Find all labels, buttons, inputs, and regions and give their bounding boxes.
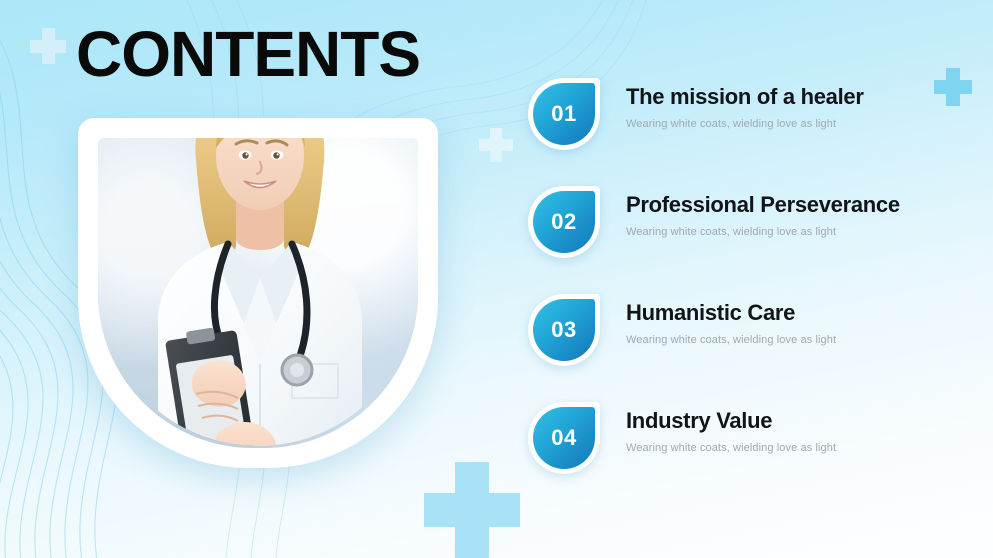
item-subtitle: Wearing white coats, wielding love as li…	[626, 118, 958, 130]
page-title: CONTENTS	[76, 22, 420, 86]
item-subtitle: Wearing white coats, wielding love as li…	[626, 226, 958, 238]
item-number-badge[interactable]: 03	[528, 294, 600, 366]
item-subtitle: Wearing white coats, wielding love as li…	[626, 334, 958, 346]
badge-number: 02	[551, 209, 576, 235]
badge-droplet: 01	[533, 83, 595, 145]
item-subtitle: Wearing white coats, wielding love as li…	[626, 442, 958, 454]
item-title: The mission of a healer	[626, 84, 958, 109]
badge-number: 01	[551, 101, 576, 127]
item-title: Professional Perseverance	[626, 192, 958, 217]
badge-droplet: 03	[533, 299, 595, 361]
item-title: Humanistic Care	[626, 300, 958, 325]
item-number-badge[interactable]: 01	[528, 78, 600, 150]
badge-number: 04	[551, 425, 576, 451]
cross-bottom-center-icon	[424, 462, 520, 558]
item-text: The mission of a healerWearing white coa…	[626, 84, 958, 130]
contents-item[interactable]: 03Humanistic CareWearing white coats, wi…	[528, 294, 958, 374]
doctor-photo	[78, 118, 438, 468]
item-text: Industry ValueWearing white coats, wield…	[626, 408, 958, 454]
item-number-badge[interactable]: 02	[528, 186, 600, 258]
item-number-badge[interactable]: 04	[528, 402, 600, 474]
item-text: Professional PerseveranceWearing white c…	[626, 192, 958, 238]
item-title: Industry Value	[626, 408, 958, 433]
badge-droplet: 02	[533, 191, 595, 253]
badge-number: 03	[551, 317, 576, 343]
badge-droplet: 04	[533, 407, 595, 469]
doctor-illustration	[78, 64, 438, 468]
contents-slide: CONTENTS	[0, 0, 993, 558]
cross-top-left-icon	[30, 28, 66, 64]
contents-list: 01The mission of a healerWearing white c…	[528, 78, 958, 482]
contents-item[interactable]: 02Professional PerseveranceWearing white…	[528, 186, 958, 266]
contents-item[interactable]: 01The mission of a healerWearing white c…	[528, 78, 958, 158]
cross-mid-left-icon	[479, 128, 513, 162]
contents-item[interactable]: 04Industry ValueWearing white coats, wie…	[528, 402, 958, 482]
item-text: Humanistic CareWearing white coats, wiel…	[626, 300, 958, 346]
